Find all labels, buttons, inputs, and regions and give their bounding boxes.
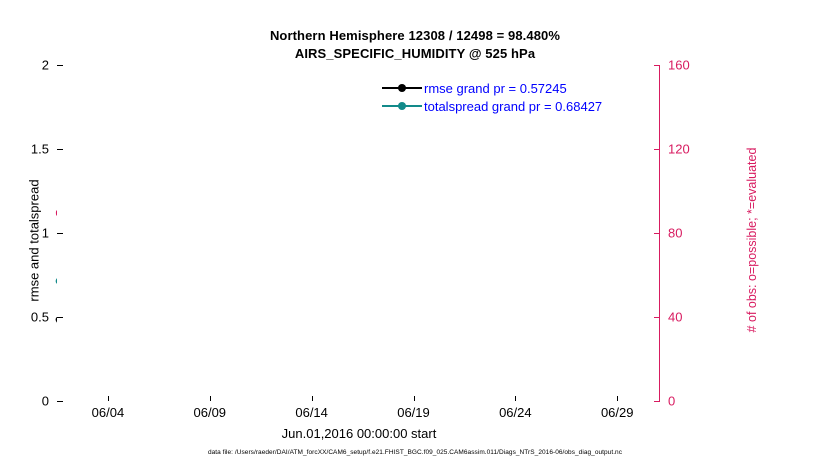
- y-tick-mark-left: [57, 401, 63, 402]
- y-axis-label-left: rmse and totalspread: [27, 111, 42, 371]
- x-tick-mark: [312, 396, 313, 401]
- y-tick-mark-right: [654, 401, 660, 402]
- y-tick-left: 2: [0, 58, 49, 73]
- y-tick-left: 0.5: [0, 310, 49, 325]
- y-tick-right: 0: [668, 394, 718, 409]
- x-tick-label: 06/04: [73, 405, 143, 420]
- y-tick-right: 80: [668, 226, 718, 241]
- y-tick-mark-right: [654, 65, 660, 66]
- x-tick-mark: [515, 396, 516, 401]
- y-tick-mark-right: [654, 149, 660, 150]
- y-tick-right: 40: [668, 310, 718, 325]
- x-axis-label: Jun.01,2016 00:00:00 start: [0, 426, 718, 441]
- x-tick-label: 06/29: [582, 405, 652, 420]
- x-tick-label: 06/19: [379, 405, 449, 420]
- y-axis-label-right: # of obs: o=possible; *=evaluated: [745, 100, 759, 380]
- y-tick-left: 1.5: [0, 142, 49, 157]
- y-tick-mark-right: [654, 317, 660, 318]
- y-tick-mark-left: [57, 65, 63, 66]
- y-tick-mark-left: [57, 233, 63, 234]
- x-tick-label: 06/14: [277, 405, 347, 420]
- data-file-path: data file: /Users/raeder/DAI/ATM_forcXX/…: [0, 449, 830, 456]
- x-tick-mark: [210, 396, 211, 401]
- x-tick-label: 06/24: [480, 405, 550, 420]
- y-tick-mark-left: [57, 317, 63, 318]
- chart-figure: Northern Hemisphere 12308 / 12498 = 98.4…: [0, 0, 830, 470]
- y-tick-mark-right: [654, 233, 660, 234]
- x-tick-label: 06/09: [175, 405, 245, 420]
- x-tick-mark: [108, 396, 109, 401]
- axis-labels: 00.511.520408012016006/0406/0906/1406/19…: [0, 0, 830, 470]
- y-tick-left: 1: [0, 226, 49, 241]
- y-tick-right: 160: [668, 58, 718, 73]
- y-tick-mark-left: [57, 149, 63, 150]
- y-tick-left: 0: [0, 394, 49, 409]
- y-tick-right: 120: [668, 142, 718, 157]
- x-tick-mark: [414, 396, 415, 401]
- x-tick-mark: [617, 396, 618, 401]
